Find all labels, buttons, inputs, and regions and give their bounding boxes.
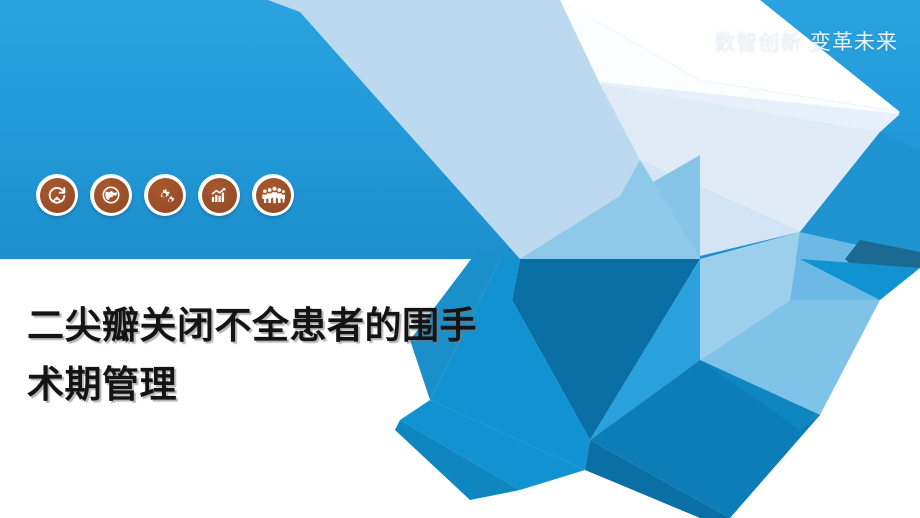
gears-icon <box>148 178 183 213</box>
icon-badge-gears[interactable] <box>144 174 186 216</box>
poly-deep-band-edge <box>700 360 820 430</box>
poly-lower-left-connector-2 <box>395 420 520 500</box>
page-title-line-1: 二尖瓣关闭不全患者的围手 <box>27 296 547 355</box>
icon-row <box>36 174 294 216</box>
icon-badge-refresh-cycle[interactable] <box>36 174 78 216</box>
refresh-cycle-icon <box>40 178 75 213</box>
page-title-line-2: 术期管理 <box>27 355 547 414</box>
slide-canvas: 数智创新 变革未来 <box>0 0 920 518</box>
tagline: 数智创新 变革未来 <box>714 26 898 56</box>
poly-midblue-lower-center <box>590 259 760 440</box>
page-title: 二尖瓣关闭不全患者的围手 术期管理 <box>27 296 547 414</box>
poly-deep-band-tail <box>585 440 730 518</box>
poly-bright-slice-right <box>800 259 920 300</box>
bar-chart-growth-icon <box>202 178 237 213</box>
poly-lightblue-right-panel-2 <box>700 300 880 415</box>
icon-badge-bar-chart-growth[interactable] <box>198 174 240 216</box>
globe-icon <box>94 178 129 213</box>
people-group-icon <box>256 178 291 213</box>
icon-badge-people-group[interactable] <box>252 174 294 216</box>
icon-badge-globe[interactable] <box>90 174 132 216</box>
poly-teal-corner-lower <box>845 259 920 268</box>
poly-deep-band-lower <box>590 360 820 518</box>
